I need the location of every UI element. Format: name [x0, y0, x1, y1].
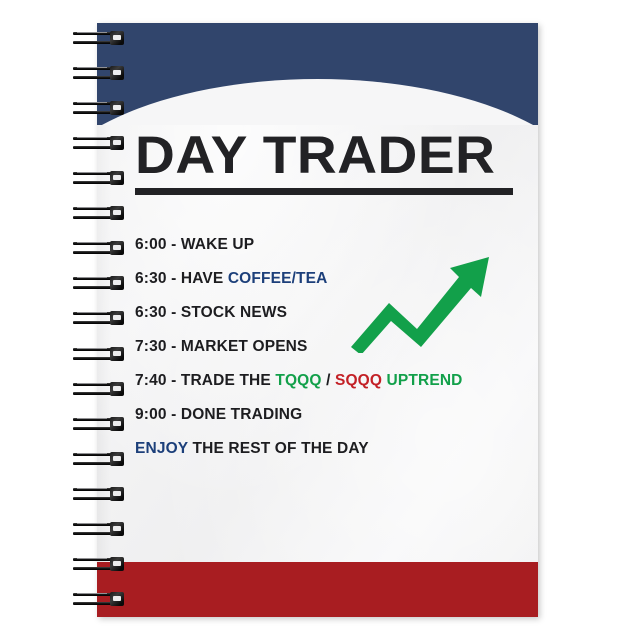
top-navy-band	[97, 23, 538, 125]
schedule-item: 6:30 - HAVE COFFEE/TEA	[135, 262, 535, 296]
page-title: DAY TRADER	[135, 129, 528, 182]
schedule-item: 9:00 - DONE TRADING	[135, 398, 535, 432]
schedule-item-text: SQQQ	[335, 372, 382, 389]
schedule-item: 7:30 - MARKET OPENS	[135, 330, 535, 364]
schedule-item: 6:30 - STOCK NEWS	[135, 296, 535, 330]
schedule-item: ENJOY THE REST OF THE DAY	[135, 432, 535, 466]
schedule-item: 6:00 - WAKE UP	[135, 228, 535, 262]
schedule-item-text: /	[322, 372, 335, 389]
schedule-item-text: 7:30 - MARKET OPENS	[135, 338, 308, 355]
screenshot-canvas: DAY TRADER 6:00 - WAKE UP6:30 - HAVE COF…	[0, 0, 644, 644]
schedule-item-text: ENJOY	[135, 440, 188, 457]
schedule-item-text: 6:30 - STOCK NEWS	[135, 304, 287, 321]
schedule-item-text: 7:40 - TRADE THE	[135, 372, 275, 389]
notebook-cover: DAY TRADER 6:00 - WAKE UP6:30 - HAVE COF…	[97, 23, 538, 617]
schedule-item-text: 9:00 - DONE TRADING	[135, 406, 302, 423]
schedule-item-text: 6:00 - WAKE UP	[135, 236, 254, 253]
title-block: DAY TRADER	[135, 129, 513, 195]
schedule-item-text: 6:30 - HAVE	[135, 270, 228, 287]
schedule-item-text: THE REST OF THE DAY	[188, 440, 369, 457]
white-arc-shape	[97, 79, 538, 125]
schedule-item-text: UPTREND	[382, 372, 462, 389]
schedule-item-text: COFFEE/TEA	[228, 270, 328, 287]
schedule-list: 6:00 - WAKE UP6:30 - HAVE COFFEE/TEA6:30…	[135, 228, 535, 466]
schedule-item: 7:40 - TRADE THE TQQQ / SQQQ UPTREND	[135, 364, 535, 398]
title-underline-rule	[135, 188, 513, 195]
schedule-item-text: TQQQ	[275, 372, 321, 389]
bottom-red-band	[97, 562, 538, 617]
